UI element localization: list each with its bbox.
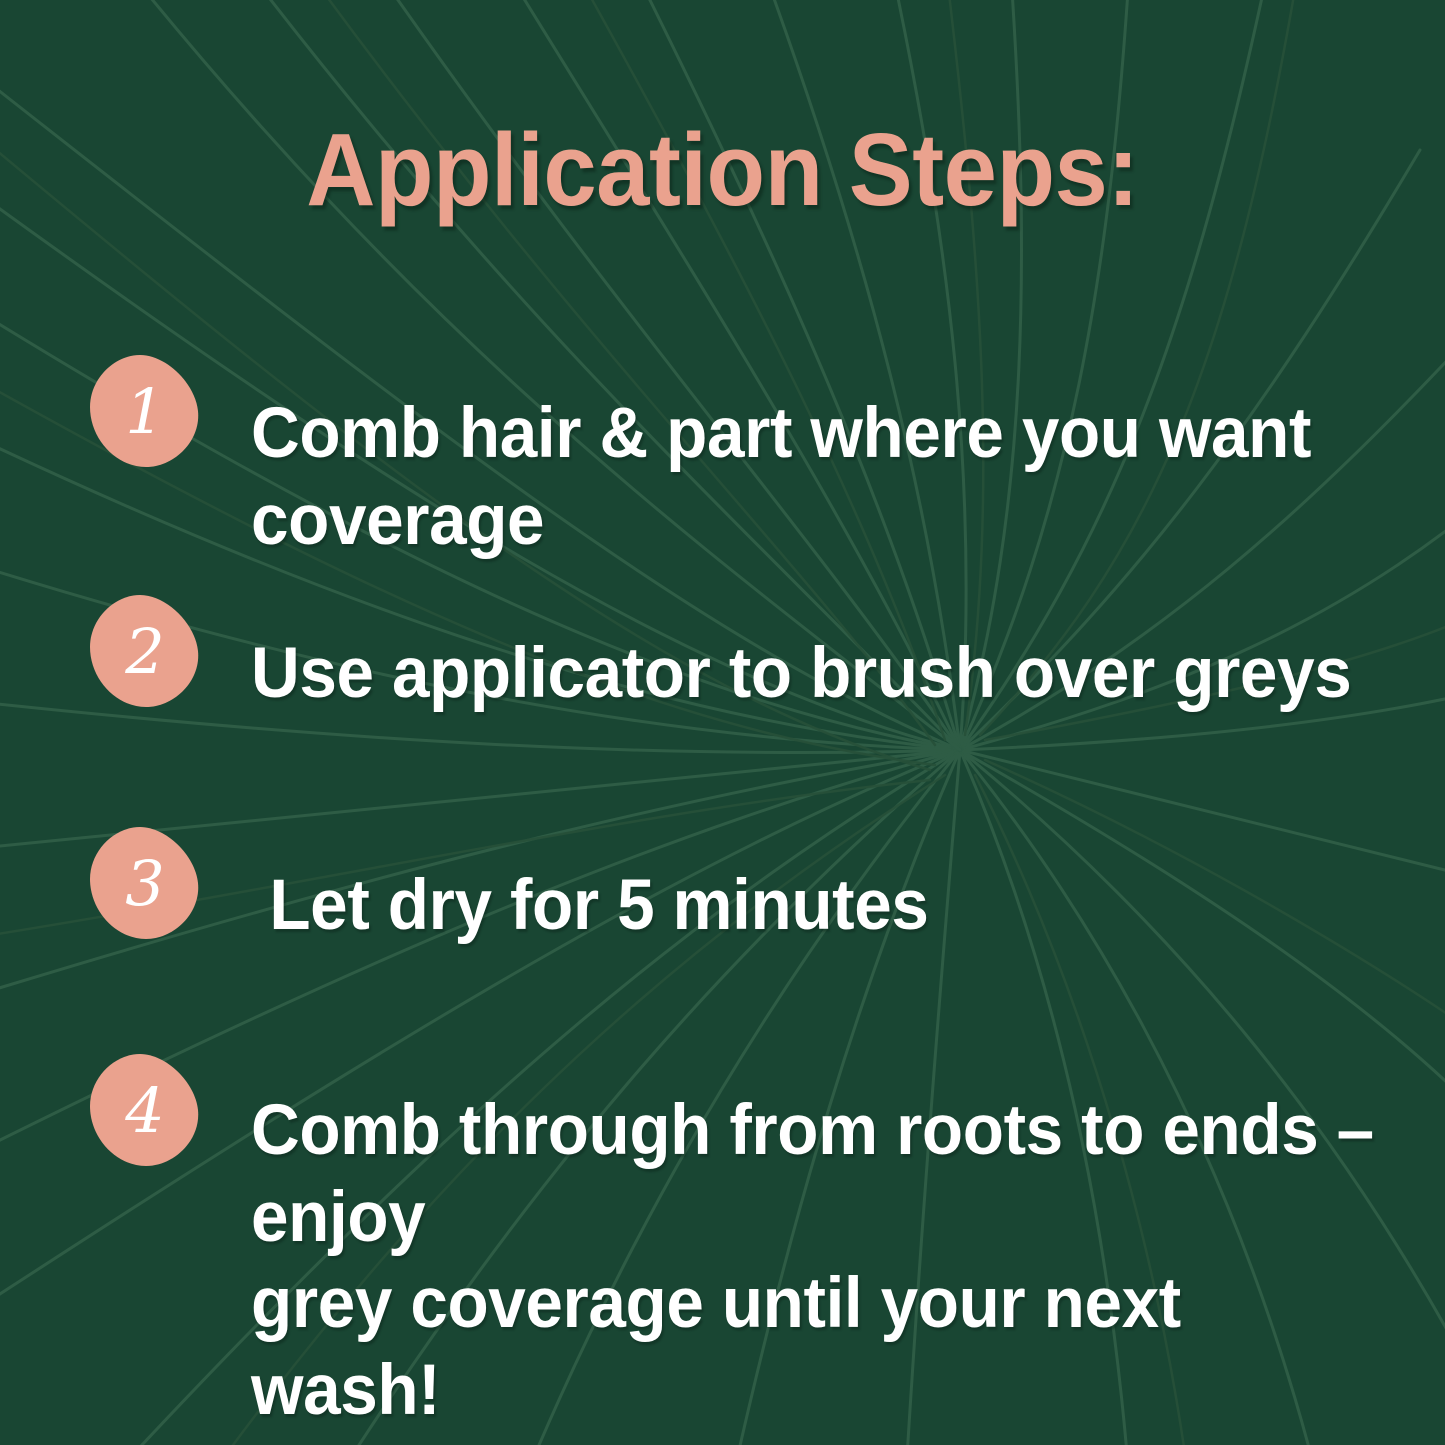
application-steps-graphic: Application Steps: 1 Comb hair & part wh… — [0, 0, 1445, 1445]
step-number-4: 4 — [124, 1074, 164, 1147]
step-text-4: Comb through from roots to ends – enjoy … — [251, 1088, 1385, 1434]
step-text-2: Use applicator to brush over greys — [251, 631, 1351, 718]
step-badge-1: 1 — [88, 353, 200, 469]
step-badge-3: 3 — [88, 825, 200, 941]
step-badge-4: 4 — [88, 1052, 200, 1168]
step-text-1: Comb hair & part where you want coverage — [251, 391, 1385, 564]
step-badge-2: 2 — [88, 593, 200, 709]
step-number-2: 2 — [124, 615, 164, 688]
step-number-3: 3 — [125, 847, 164, 920]
step-number-1: 1 — [125, 375, 164, 448]
step-text-3: Let dry for 5 minutes — [251, 863, 929, 950]
page-title: Application Steps: — [51, 118, 1395, 221]
